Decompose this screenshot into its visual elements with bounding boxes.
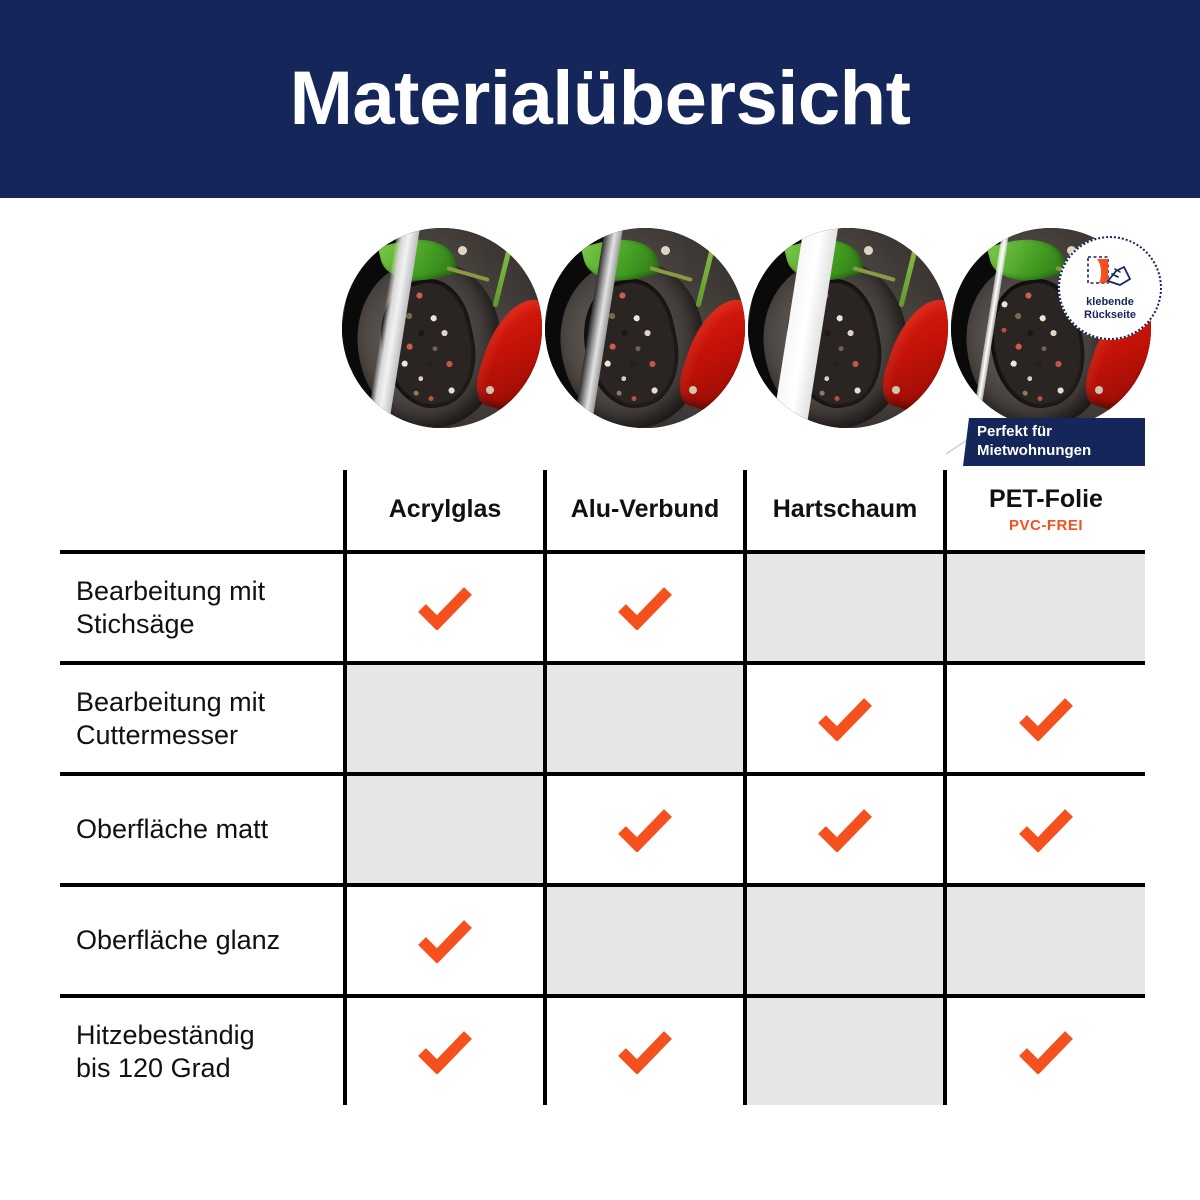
check-icon	[1018, 1030, 1074, 1074]
column-label: Acrylglas	[347, 496, 543, 524]
check-icon	[417, 919, 473, 963]
spice-photo	[342, 228, 542, 428]
product-thumb-acrylglas[interactable]	[342, 228, 542, 428]
pepper-dot	[1095, 386, 1103, 394]
check-icon	[617, 1030, 673, 1074]
product-thumbnail-strip	[0, 228, 1200, 448]
row-label-line2: Stichsäge	[76, 608, 343, 641]
row-label-line1: Hitzebeständig	[76, 1019, 343, 1052]
row-label-line1: Bearbeitung mit	[76, 686, 343, 719]
pepper-dot	[892, 386, 900, 394]
pepper-dot	[689, 386, 697, 394]
table-row: Bearbeitung mitCuttermesser	[60, 663, 1145, 774]
check-icon	[1018, 697, 1074, 741]
cell-supported	[545, 552, 745, 663]
pepper-dot	[864, 246, 873, 255]
row-label-line1: Oberfläche glanz	[76, 924, 343, 957]
chili-stem	[695, 236, 717, 307]
table-row: Bearbeitung mitStichsäge	[60, 552, 1145, 663]
klebende-rueckseite-badge: klebende Rückseite	[1058, 236, 1162, 340]
table-header: Acrylglas Alu-Verbund Hartschaum PET-Fol…	[60, 470, 1145, 552]
row-label-line2: Cuttermesser	[76, 719, 343, 752]
column-header-alu-verbund: Alu-Verbund	[545, 470, 745, 552]
column-sublabel-pvc-frei: PVC-FREI	[947, 517, 1145, 534]
cell-supported	[545, 996, 745, 1105]
cell-supported	[545, 774, 745, 885]
product-thumb-hartschaum[interactable]	[748, 228, 948, 428]
check-icon	[1018, 808, 1074, 852]
pepper-dot	[458, 246, 467, 255]
spice-photo	[545, 228, 745, 428]
spice-photo	[748, 228, 948, 428]
table-row: Oberfläche matt	[60, 774, 1145, 885]
cell-supported	[745, 663, 945, 774]
cell-not-supported	[945, 885, 1145, 996]
cell-not-supported	[345, 774, 545, 885]
check-icon	[417, 586, 473, 630]
check-icon	[817, 697, 873, 741]
column-label: PET-Folie	[947, 486, 1145, 514]
column-header-pet-folie: PET-Folie PVC-FREI	[945, 470, 1145, 552]
chili-stem	[492, 236, 514, 307]
product-thumb-alu-verbund[interactable]	[545, 228, 745, 428]
cell-not-supported	[345, 663, 545, 774]
perfekt-fuer-mietwohnungen-ribbon: Perfekt für Mietwohnungen	[963, 418, 1145, 466]
header-corner-blank	[60, 470, 345, 552]
cell-supported	[345, 996, 545, 1105]
page-title: Materialübersicht	[290, 61, 911, 137]
matrix-table: Acrylglas Alu-Verbund Hartschaum PET-Fol…	[60, 470, 1145, 1105]
column-label: Alu-Verbund	[547, 496, 743, 524]
check-icon	[617, 808, 673, 852]
header-row: Acrylglas Alu-Verbund Hartschaum PET-Fol…	[60, 470, 1145, 552]
cell-supported	[945, 996, 1145, 1105]
check-icon	[417, 1030, 473, 1074]
header-banner: Materialübersicht	[0, 0, 1200, 198]
column-header-acrylglas: Acrylglas	[345, 470, 545, 552]
row-label: Oberfläche matt	[60, 774, 345, 885]
row-label-line2: bis 120 Grad	[76, 1052, 343, 1085]
check-icon	[817, 808, 873, 852]
row-label-line1: Bearbeitung mit	[76, 575, 343, 608]
cell-not-supported	[545, 885, 745, 996]
cell-supported	[345, 552, 545, 663]
pepper-dot	[486, 386, 494, 394]
cell-supported	[345, 885, 545, 996]
adhesive-backing-peel-icon	[1086, 255, 1134, 294]
cell-not-supported	[745, 885, 945, 996]
chili-stem	[898, 236, 920, 307]
row-label: Bearbeitung mitStichsäge	[60, 552, 345, 663]
row-label: Hitzebeständigbis 120 Grad	[60, 996, 345, 1105]
row-label: Bearbeitung mitCuttermesser	[60, 663, 345, 774]
cell-supported	[945, 663, 1145, 774]
cell-not-supported	[545, 663, 745, 774]
column-header-hartschaum: Hartschaum	[745, 470, 945, 552]
row-label-line1: Oberfläche matt	[76, 813, 343, 846]
table-row: Hitzebeständigbis 120 Grad	[60, 996, 1145, 1105]
material-comparison-table: Acrylglas Alu-Verbund Hartschaum PET-Fol…	[60, 470, 1145, 1095]
cell-not-supported	[745, 552, 945, 663]
cell-not-supported	[745, 996, 945, 1105]
cell-supported	[745, 774, 945, 885]
check-icon	[617, 586, 673, 630]
badge-label-line2: Rückseite	[1084, 309, 1136, 322]
ribbon-label-line2: Mietwohnungen	[977, 442, 1145, 461]
badge-label-line1: klebende	[1086, 296, 1134, 309]
pepper-dot	[661, 246, 670, 255]
table-row: Oberfläche glanz	[60, 885, 1145, 996]
cell-not-supported	[945, 552, 1145, 663]
column-label: Hartschaum	[747, 496, 943, 524]
row-label: Oberfläche glanz	[60, 885, 345, 996]
cell-supported	[945, 774, 1145, 885]
ribbon-label-line1: Perfekt für	[977, 423, 1145, 442]
table-body: Bearbeitung mitStichsägeBearbeitung mitC…	[60, 552, 1145, 1105]
